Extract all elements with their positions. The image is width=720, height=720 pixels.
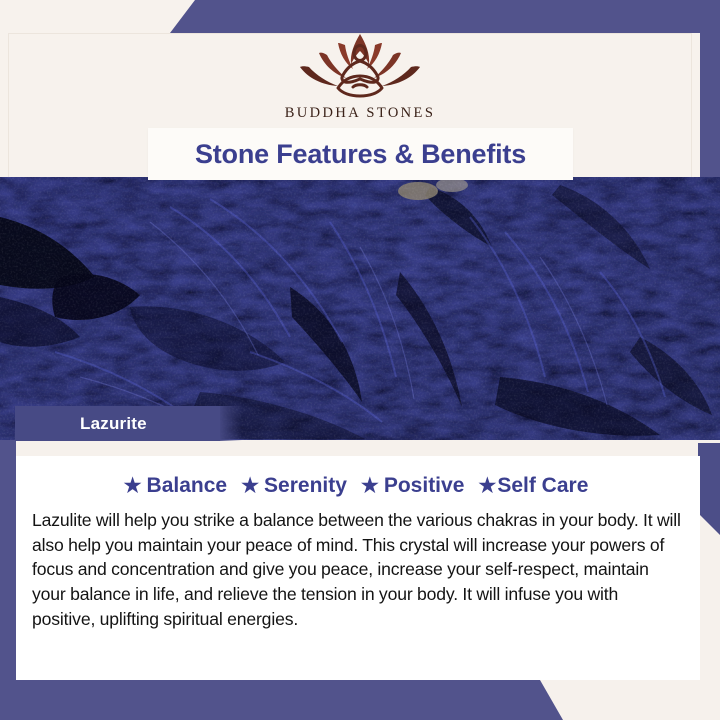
benefit-item: ★ Balance <box>124 474 227 498</box>
benefit-label: Self Care <box>497 474 588 498</box>
content-right-accent-tab <box>698 443 720 535</box>
benefit-label: Serenity <box>264 474 347 498</box>
star-icon: ★ <box>361 476 379 496</box>
stone-name-chip: Lazurite <box>15 406 220 441</box>
content-top-cream-strip <box>0 440 720 456</box>
benefits-list: ★ Balance ★ Serenity ★ Positive ★ Self C… <box>28 474 684 498</box>
title-banner: Stone Features & Benefits <box>148 128 573 180</box>
brand-name: BUDDHA STONES <box>285 105 436 122</box>
benefit-label: Positive <box>384 474 465 498</box>
lotus-meditation-icon <box>286 30 434 102</box>
stone-description: Lazulite will help you strike a balance … <box>28 508 684 631</box>
content-panel: ★ Balance ★ Serenity ★ Positive ★ Self C… <box>16 456 700 681</box>
brand-logo: BUDDHA STONES <box>0 30 720 122</box>
benefit-item: ★ Positive <box>361 474 464 498</box>
star-icon: ★ <box>478 476 496 496</box>
star-icon: ★ <box>124 476 142 496</box>
benefit-item: ★ Serenity <box>241 474 347 498</box>
page-title: Stone Features & Benefits <box>195 139 526 170</box>
infographic-page: BUDDHA STONES Stone Features & Benefits <box>0 0 720 720</box>
benefit-label: Balance <box>147 474 228 498</box>
content-left-accent-bar <box>0 440 16 680</box>
benefit-item: ★ Self Care <box>478 474 588 498</box>
star-icon: ★ <box>241 476 259 496</box>
lazurite-stone-photo <box>0 177 720 440</box>
stone-name-label: Lazurite <box>80 414 147 434</box>
